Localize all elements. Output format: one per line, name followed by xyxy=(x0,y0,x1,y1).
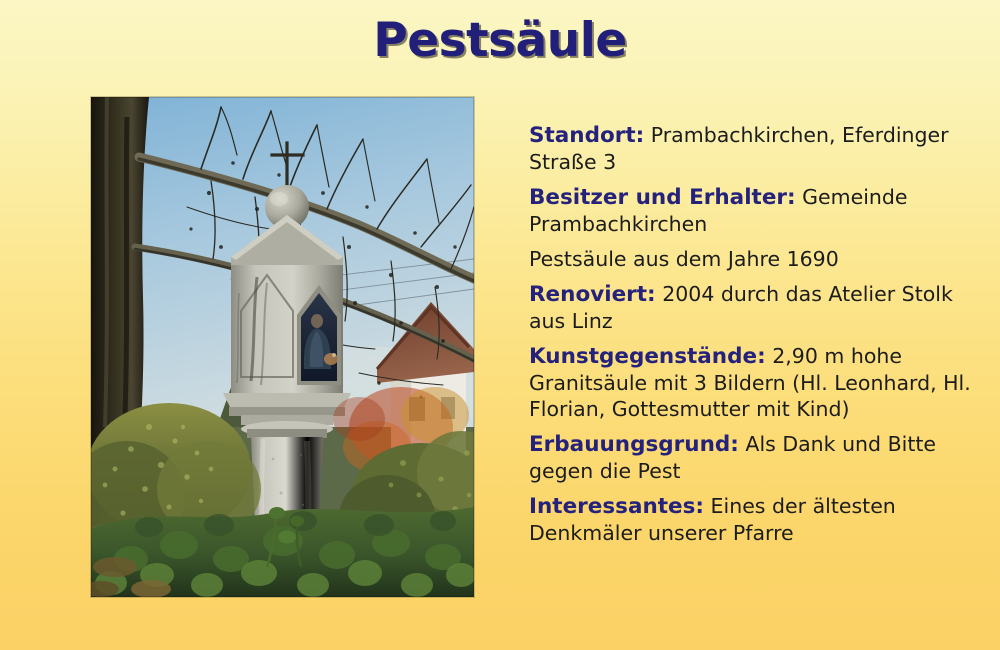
info-label-interessantes: Interessantes: xyxy=(529,494,704,519)
info-item-kunstgegenstaende: Kunstgegenstände: 2,90 m hohe Granitsäul… xyxy=(529,343,979,422)
info-label-standort: Standort: xyxy=(529,123,644,148)
info-item-besitzer: Besitzer und Erhalter: Gemeinde Prambach… xyxy=(529,184,979,237)
info-label-kunstgegenstaende: Kunstgegenstände: xyxy=(529,344,766,369)
info-label-besitzer: Besitzer und Erhalter: xyxy=(529,185,796,210)
info-item-renoviert: Renoviert: 2004 durch das Atelier Stolk … xyxy=(529,281,979,334)
info-label-renoviert: Renoviert: xyxy=(529,282,656,307)
info-item-erbauungsgrund: Erbauungsgrund: Als Dank und Bitte gegen… xyxy=(529,431,979,484)
pestsaeule-photo xyxy=(91,97,474,597)
photo-illustration xyxy=(91,97,474,597)
info-list: Standort: Prambachkirchen, Eferdinger St… xyxy=(529,122,979,546)
info-item-standort: Standort: Prambachkirchen, Eferdinger St… xyxy=(529,122,979,175)
info-value-baujahr: Pestsäule aus dem Jahre 1690 xyxy=(529,247,839,271)
slide-root: Pestsäule xyxy=(0,0,1000,650)
page-title: Pestsäule xyxy=(0,13,1000,68)
info-label-erbauungsgrund: Erbauungsgrund: xyxy=(529,432,739,457)
info-item-baujahr: Pestsäule aus dem Jahre 1690 xyxy=(529,246,979,272)
info-item-interessantes: Interessantes: Eines der ältesten Denkmä… xyxy=(529,493,979,546)
